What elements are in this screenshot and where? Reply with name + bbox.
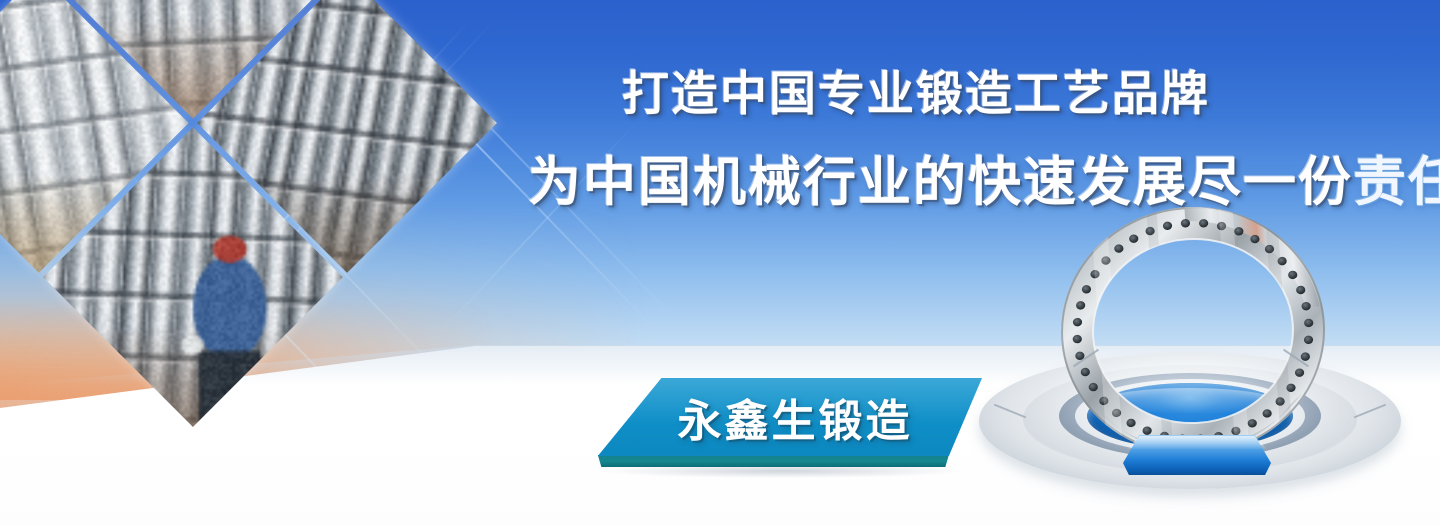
cta-label: 永鑫生锻造 bbox=[592, 378, 982, 456]
headline-secondary-accent: 责任 bbox=[1353, 153, 1440, 212]
cta-platform-edge bbox=[592, 455, 982, 467]
headline-primary: 打造中国专业锻造工艺品牌 bbox=[622, 66, 1210, 122]
brand-cta-button[interactable]: 永鑫生锻造 bbox=[592, 378, 982, 476]
flange-ring-product bbox=[1051, 196, 1336, 466]
pedestal-front-wedge-highlight bbox=[1127, 436, 1267, 449]
hero-banner: 打造中国专业锻造工艺品牌 为中国机械行业的快速发展尽一份责任 永鑫生锻造 bbox=[0, 0, 1440, 525]
product-showcase bbox=[975, 205, 1405, 505]
